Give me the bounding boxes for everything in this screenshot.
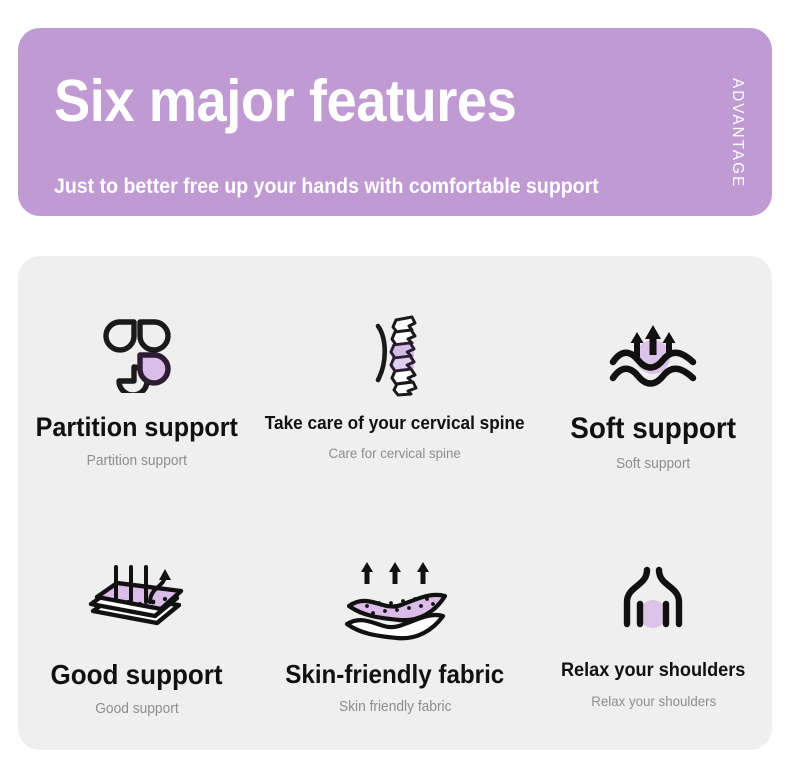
cervical-spine-icon (356, 308, 434, 400)
feature-subtitle: Good support (95, 702, 178, 717)
feature-title: Relax your shoulders (561, 661, 745, 681)
feature-subtitle: Partition support (86, 454, 186, 469)
arrows-over-waves-icon (605, 308, 701, 400)
feature-item-soft-support: Soft support Soft support (535, 256, 772, 503)
feature-title: Partition support (36, 414, 238, 441)
features-grid: Partition support Partition support (18, 256, 772, 750)
features-card: Partition support Partition support (18, 256, 772, 750)
feature-subtitle: Relax your shoulders (591, 694, 716, 708)
shoulders-silhouette-icon (611, 555, 695, 647)
header-banner: Six major features Just to better free u… (18, 28, 772, 216)
feature-title: Skin-friendly fabric (285, 661, 504, 687)
feature-item-good-support: Good support Good support (18, 503, 255, 750)
feature-item-relax-shoulders: Relax your shoulders Relax your shoulder… (535, 503, 772, 750)
four-petal-clover-icon (98, 308, 176, 400)
feature-subtitle: Soft support (616, 457, 690, 472)
advantage-vertical-label: ADVANTAGE (728, 78, 746, 188)
page-title: Six major features (54, 72, 516, 131)
feature-title: Soft support (570, 414, 736, 444)
feature-title: Take care of your cervical spine (265, 414, 525, 433)
feature-subtitle: Care for cervical spine (329, 446, 461, 460)
feature-item-skin-friendly-fabric: Skin-friendly fabric Skin friendly fabri… (255, 503, 534, 750)
feature-item-cervical-spine: Take care of your cervical spine Care fo… (255, 256, 534, 503)
advantage-feature-page: Six major features Just to better free u… (0, 0, 790, 763)
feature-item-partition-support: Partition support Partition support (18, 256, 255, 503)
feature-subtitle: Skin friendly fabric (339, 700, 452, 715)
page-subtitle: Just to better free up your hands with c… (54, 176, 599, 197)
feature-title: Good support (51, 661, 223, 689)
skin-friendly-fabric-icon (337, 555, 453, 647)
breathable-fabric-layers-icon (83, 555, 191, 647)
